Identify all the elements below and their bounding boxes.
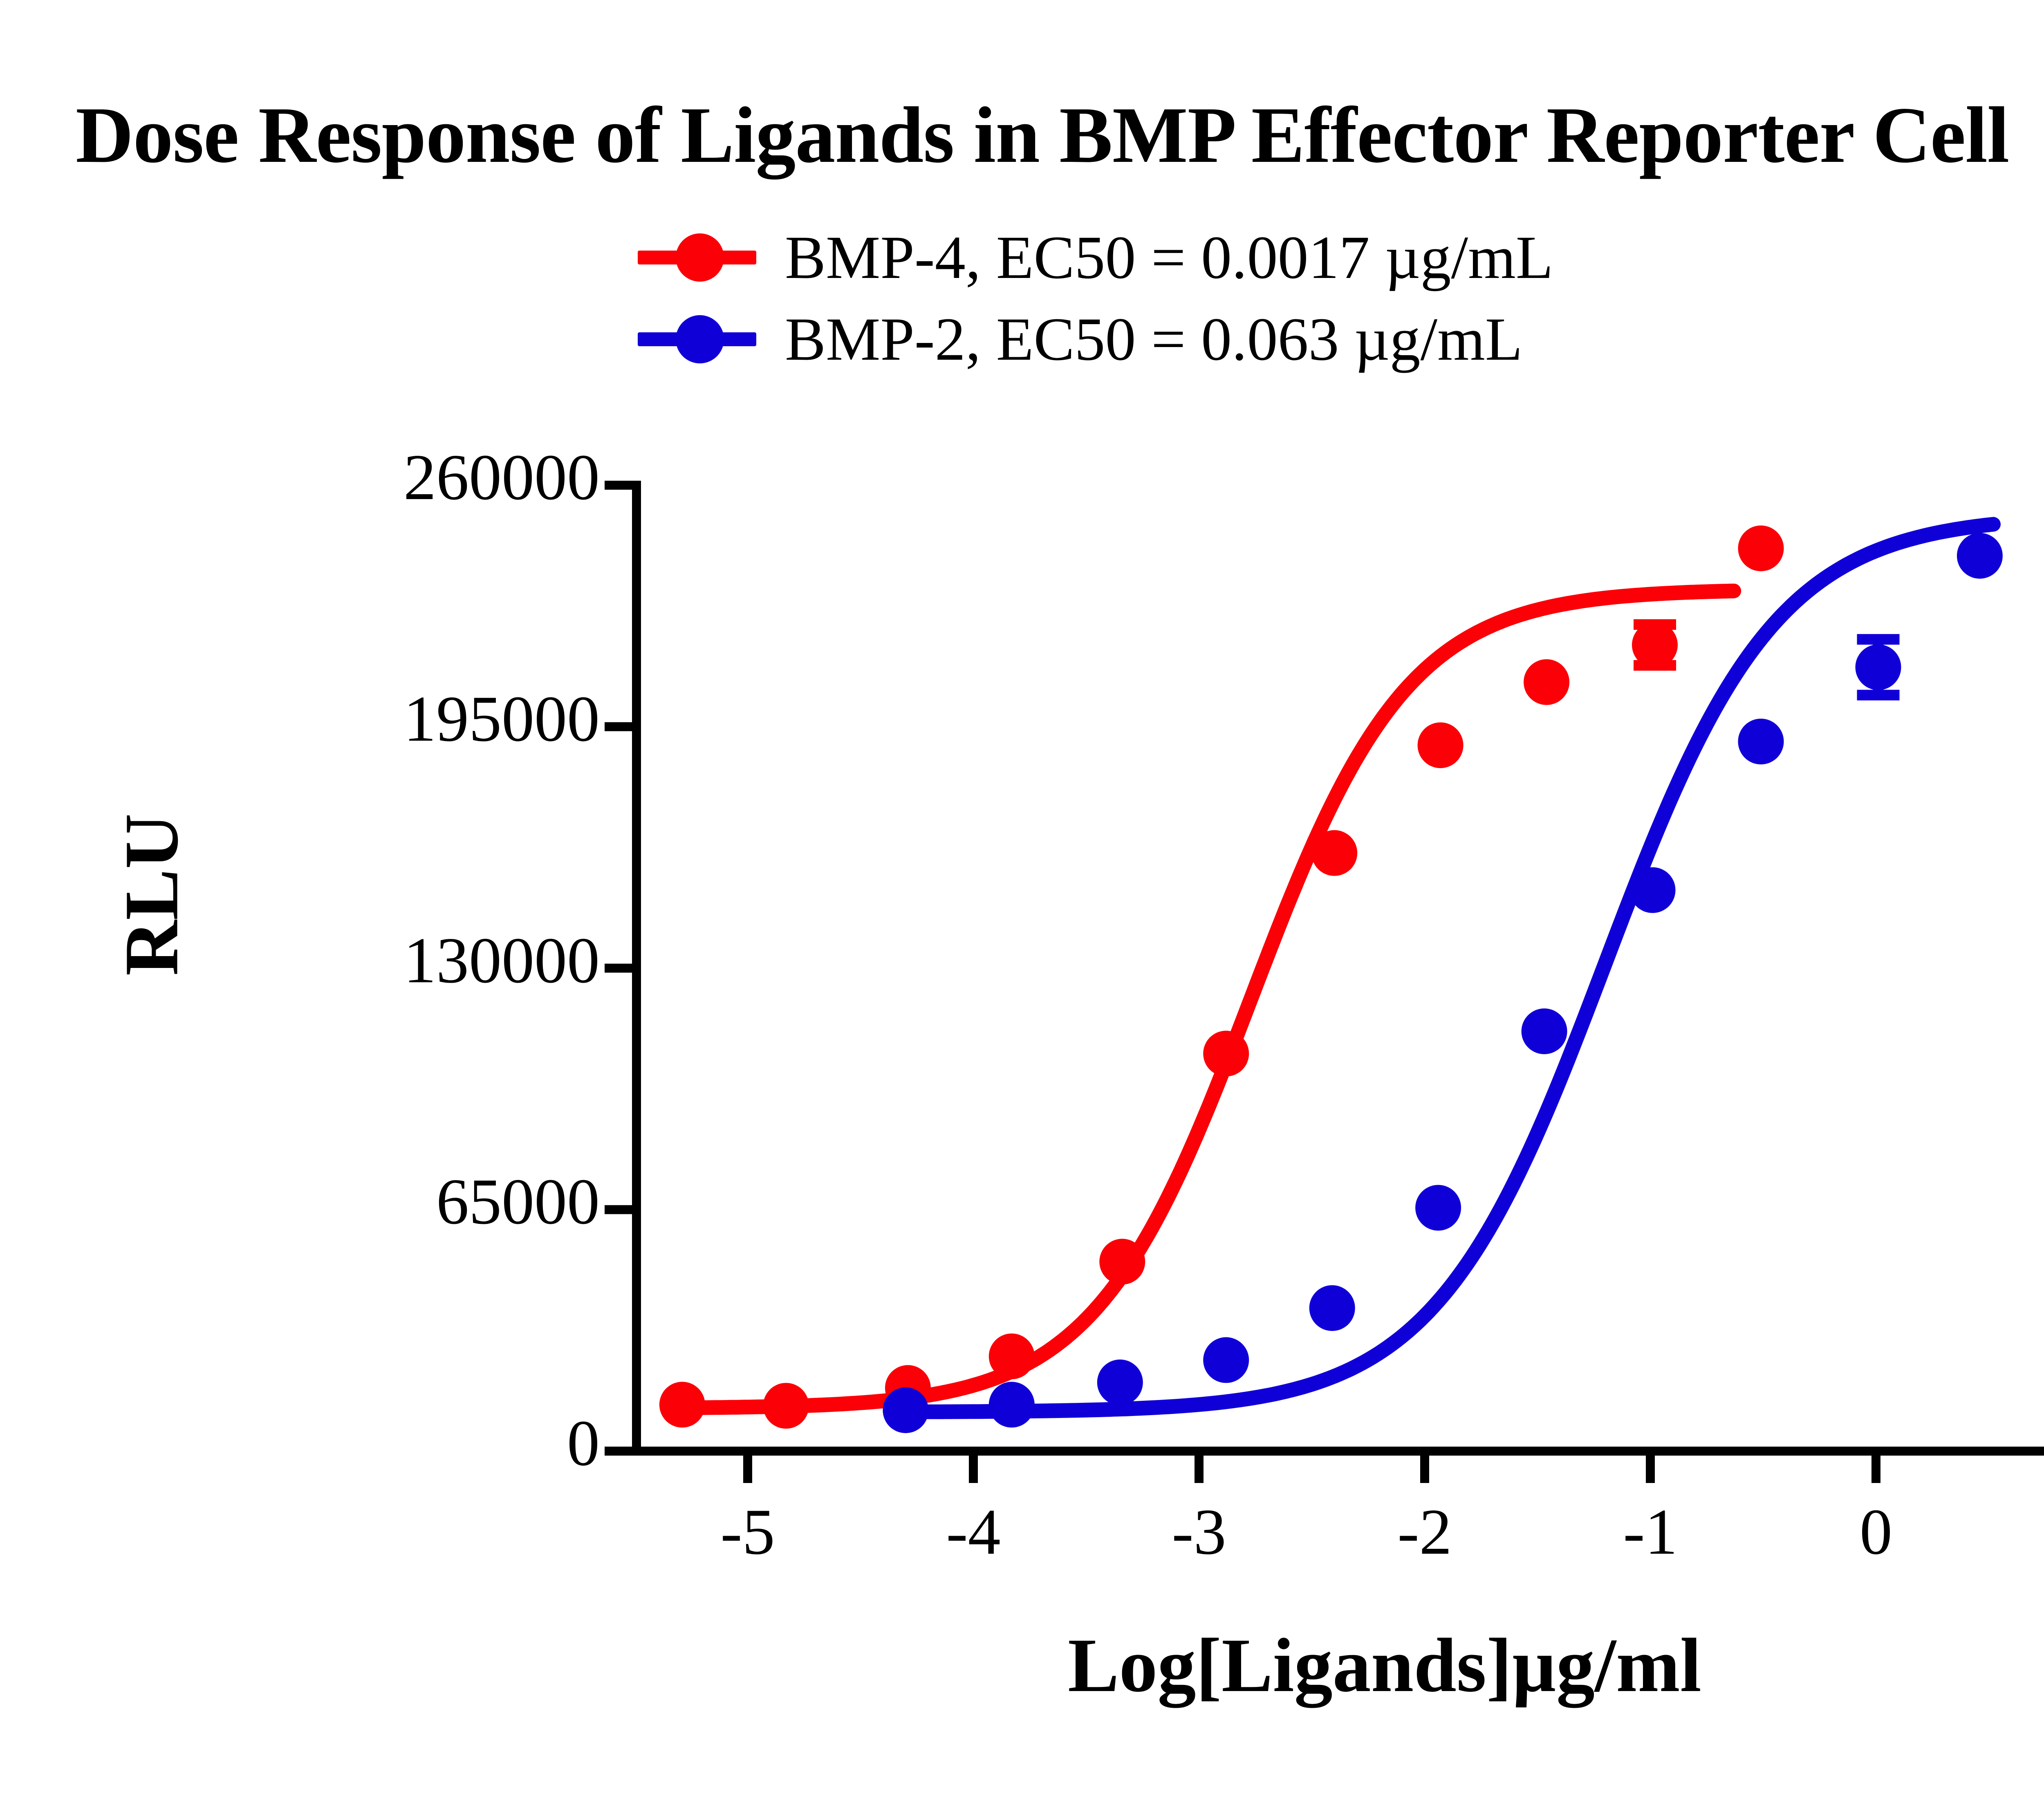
- data-point-1-10[interactable]: [1957, 533, 2003, 579]
- data-point-1-6[interactable]: [1522, 1008, 1567, 1054]
- data-point-0-5[interactable]: [1203, 1031, 1249, 1077]
- data-point-1-8[interactable]: [1738, 719, 1784, 764]
- data-point-0-4[interactable]: [1099, 1239, 1145, 1285]
- data-point-0-6[interactable]: [1311, 830, 1357, 876]
- data-point-0-1[interactable]: [763, 1383, 809, 1429]
- data-series-group: [659, 524, 2003, 1433]
- data-point-0-8[interactable]: [1524, 659, 1569, 705]
- plot-area: [0, 0, 2044, 1819]
- data-point-1-5[interactable]: [1415, 1185, 1461, 1231]
- chart-canvas: Dose Response of Ligands in BMP Effector…: [0, 0, 2044, 1819]
- data-point-0-3[interactable]: [989, 1333, 1035, 1379]
- data-point-1-9[interactable]: [1856, 644, 1901, 690]
- data-point-1-2[interactable]: [1097, 1360, 1143, 1405]
- axis-lines: [605, 481, 2044, 1483]
- data-point-0-9[interactable]: [1632, 622, 1678, 668]
- fit-curve-series-0: [675, 591, 1734, 1408]
- data-point-0-10[interactable]: [1738, 526, 1784, 571]
- data-point-1-4[interactable]: [1309, 1285, 1355, 1331]
- data-point-1-0[interactable]: [883, 1387, 928, 1433]
- data-point-1-1[interactable]: [989, 1382, 1035, 1427]
- data-point-0-7[interactable]: [1418, 722, 1464, 768]
- data-point-1-3[interactable]: [1203, 1337, 1249, 1383]
- data-point-1-7[interactable]: [1630, 867, 1676, 913]
- data-point-0-0[interactable]: [659, 1382, 705, 1427]
